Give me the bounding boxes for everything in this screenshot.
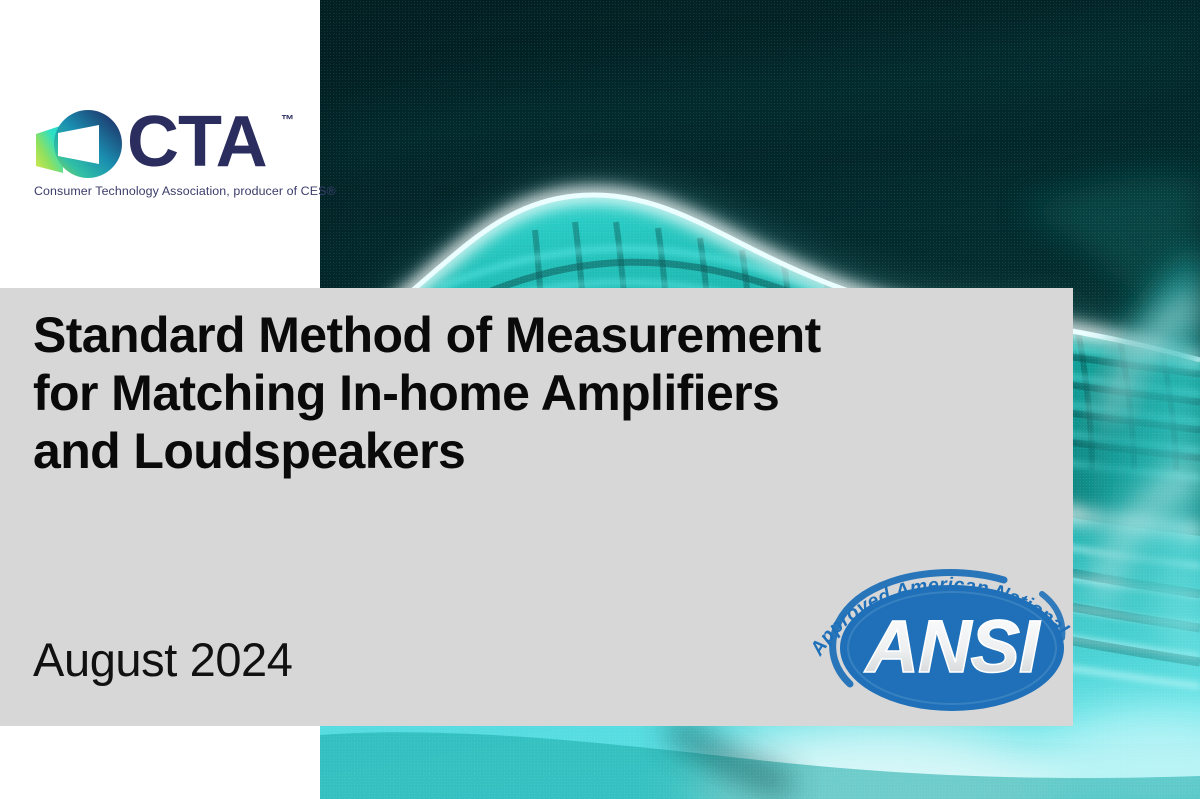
title-line-3: and Loudspeakers [33,422,1043,480]
cta-logo-mark-icon [33,104,125,182]
ansi-approved-standard-seal: Approved American National Standard ANSI [806,538,1078,724]
trademark-symbol: ™ [281,112,294,127]
ansi-acronym: ANSI [864,605,1041,688]
cta-logo: CTA ™ Consumer Technology Association, p… [33,104,291,196]
document-cover: CTA ™ Consumer Technology Association, p… [0,0,1200,799]
title-line-2: for Matching In-home Amplifiers [33,364,1043,422]
white-footer-block [0,726,320,799]
cta-wordmark: CTA [127,103,267,181]
document-title: Standard Method of Measurement for Match… [33,306,1043,480]
publication-date: August 2024 [33,632,293,688]
cta-tagline: Consumer Technology Association, produce… [34,184,336,198]
title-line-1: Standard Method of Measurement [33,306,1043,364]
